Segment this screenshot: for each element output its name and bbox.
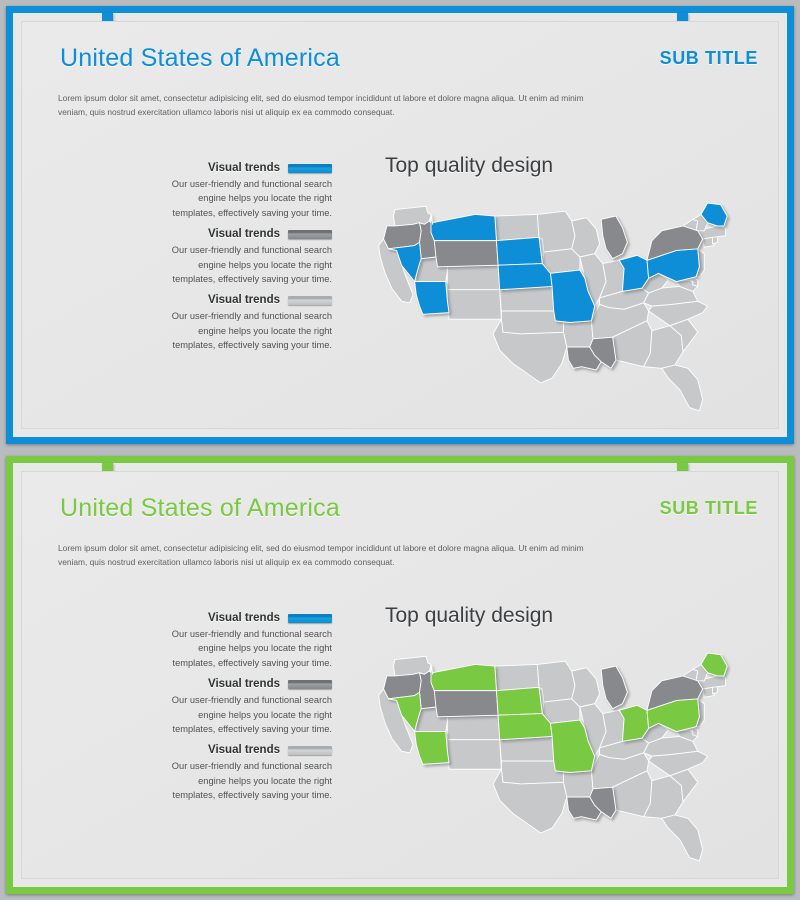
state-southdakota[interactable] <box>496 237 542 265</box>
legend-item-label: Visual trends <box>208 294 280 306</box>
state-montana[interactable] <box>431 214 496 240</box>
state-newmexico[interactable] <box>447 740 501 769</box>
state-michigan[interactable] <box>601 666 627 709</box>
state-florida[interactable] <box>662 815 703 861</box>
state-wyoming[interactable] <box>434 241 498 267</box>
legend-item-label: Visual trends <box>208 162 280 174</box>
legend-item-label: Visual trends <box>208 228 280 240</box>
legend-header: Visual trends <box>168 678 332 690</box>
legend-header: Visual trends <box>168 162 332 174</box>
panel-content: United States of America SUB TITLE Lorem… <box>21 471 779 879</box>
legend-swatch-icon <box>288 614 332 623</box>
legend-list: Visual trends Our user-friendly and func… <box>168 612 332 811</box>
state-washington[interactable] <box>393 656 431 676</box>
state-newmexico[interactable] <box>447 290 501 319</box>
legend-item[interactable]: Visual trends Our user-friendly and func… <box>168 612 332 670</box>
state-delaware[interactable] <box>693 278 698 286</box>
page-subtitle: SUB TITLE <box>660 48 758 69</box>
map-title: Top quality design <box>385 154 553 178</box>
legend-item[interactable]: Visual trends Our user-friendly and func… <box>168 294 332 352</box>
state-delaware[interactable] <box>693 728 698 736</box>
state-northdakota[interactable] <box>495 664 539 690</box>
state-arizona[interactable] <box>415 282 449 315</box>
state-nebraska[interactable] <box>498 264 552 290</box>
legend-header: Visual trends <box>168 744 332 756</box>
state-minnesota[interactable] <box>537 211 575 252</box>
legend-header: Visual trends <box>168 612 332 624</box>
legend-item-description: Our user-friendly and functional search … <box>168 759 332 802</box>
state-michigan[interactable] <box>601 216 627 259</box>
legend-swatch-icon <box>288 746 332 755</box>
legend-swatch-icon <box>288 680 332 689</box>
legend-list: Visual trends Our user-friendly and func… <box>168 162 332 361</box>
legend-item-label: Visual trends <box>208 612 280 624</box>
legend-item-description: Our user-friendly and functional search … <box>168 243 332 286</box>
slide-panel: United States of America SUB TITLE Lorem… <box>0 0 800 450</box>
state-kansas[interactable] <box>500 286 554 311</box>
state-montana[interactable] <box>431 664 496 690</box>
state-arkansas[interactable] <box>564 321 593 347</box>
panel-frame: United States of America SUB TITLE Lorem… <box>6 6 794 444</box>
map-title: Top quality design <box>385 604 553 628</box>
legend-swatch-icon <box>288 230 332 239</box>
legend-item-description: Our user-friendly and functional search … <box>168 309 332 352</box>
panel-frame: United States of America SUB TITLE Lorem… <box>6 456 794 894</box>
state-wisconsin[interactable] <box>572 218 600 257</box>
usa-map[interactable] <box>377 632 737 872</box>
state-wisconsin[interactable] <box>572 668 600 707</box>
state-nebraska[interactable] <box>498 714 552 740</box>
slide-deck: United States of America SUB TITLE Lorem… <box>0 0 800 900</box>
state-arkansas[interactable] <box>564 771 593 797</box>
usa-map[interactable] <box>377 182 737 422</box>
legend-item[interactable]: Visual trends Our user-friendly and func… <box>168 744 332 802</box>
legend-header: Visual trends <box>168 228 332 240</box>
intro-paragraph: Lorem ipsum dolor sit amet, consectetur … <box>58 542 603 570</box>
legend-item[interactable]: Visual trends Our user-friendly and func… <box>168 678 332 736</box>
legend-item-description: Our user-friendly and functional search … <box>168 177 332 220</box>
panel-content: United States of America SUB TITLE Lorem… <box>21 21 779 429</box>
intro-paragraph: Lorem ipsum dolor sit amet, consectetur … <box>58 92 603 120</box>
state-southdakota[interactable] <box>496 687 542 715</box>
legend-item-label: Visual trends <box>208 678 280 690</box>
slide-panel: United States of America SUB TITLE Lorem… <box>0 450 800 900</box>
state-florida[interactable] <box>662 365 703 411</box>
legend-item-description: Our user-friendly and functional search … <box>168 627 332 670</box>
legend-header: Visual trends <box>168 294 332 306</box>
state-northdakota[interactable] <box>495 214 539 240</box>
legend-swatch-icon <box>288 296 332 305</box>
page-title: United States of America <box>60 494 340 523</box>
state-kansas[interactable] <box>500 736 554 761</box>
page-subtitle: SUB TITLE <box>660 498 758 519</box>
legend-item-description: Our user-friendly and functional search … <box>168 693 332 736</box>
page-title: United States of America <box>60 44 340 73</box>
legend-item[interactable]: Visual trends Our user-friendly and func… <box>168 162 332 220</box>
legend-swatch-icon <box>288 164 332 173</box>
state-wyoming[interactable] <box>434 691 498 717</box>
state-washington[interactable] <box>393 206 431 226</box>
state-minnesota[interactable] <box>537 661 575 702</box>
legend-item-label: Visual trends <box>208 744 280 756</box>
legend-item[interactable]: Visual trends Our user-friendly and func… <box>168 228 332 286</box>
state-arizona[interactable] <box>415 732 449 765</box>
